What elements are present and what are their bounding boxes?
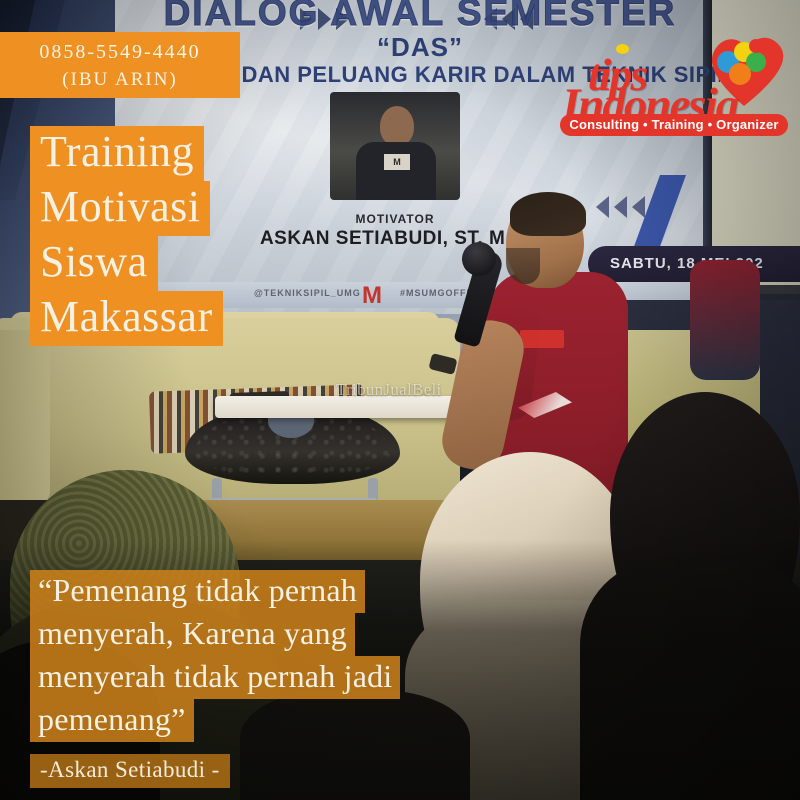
quote-line-3: menyerah tidak pernah jadi: [30, 656, 400, 699]
poster-title: Training Motivasi Siswa Makassar: [30, 126, 223, 346]
quote-line-4: pemenang”: [30, 699, 194, 742]
logo-tagline: Consulting • Training • Organizer: [560, 114, 788, 136]
contact-banner: 0858-5549-4440 (IBU ARIN): [0, 32, 240, 98]
phone-number: 0858-5549-4440: [0, 38, 240, 66]
title-line-2: Motivasi: [30, 181, 210, 236]
title-line-3: Siswa: [30, 236, 158, 291]
poster-canvas: DIALOG AWAL SEMESTER “DAS” FESIONAL DAN …: [0, 0, 800, 800]
tips-indonesia-logo: tips Indonesia Consulting • Training • O…: [556, 26, 792, 138]
quote-line-1: “Pemenang tidak pernah: [30, 570, 365, 613]
watermark: TribunJualBeli: [336, 380, 442, 400]
quote-line-2: menyerah, Karena yang: [30, 613, 355, 656]
title-line-1: Training: [30, 126, 204, 181]
quote-block: “Pemenang tidak pernah menyerah, Karena …: [30, 570, 400, 788]
title-line-4: Makassar: [30, 291, 223, 346]
quote-author: -Askan Setiabudi -: [30, 754, 230, 788]
contact-person: (IBU ARIN): [0, 66, 240, 94]
